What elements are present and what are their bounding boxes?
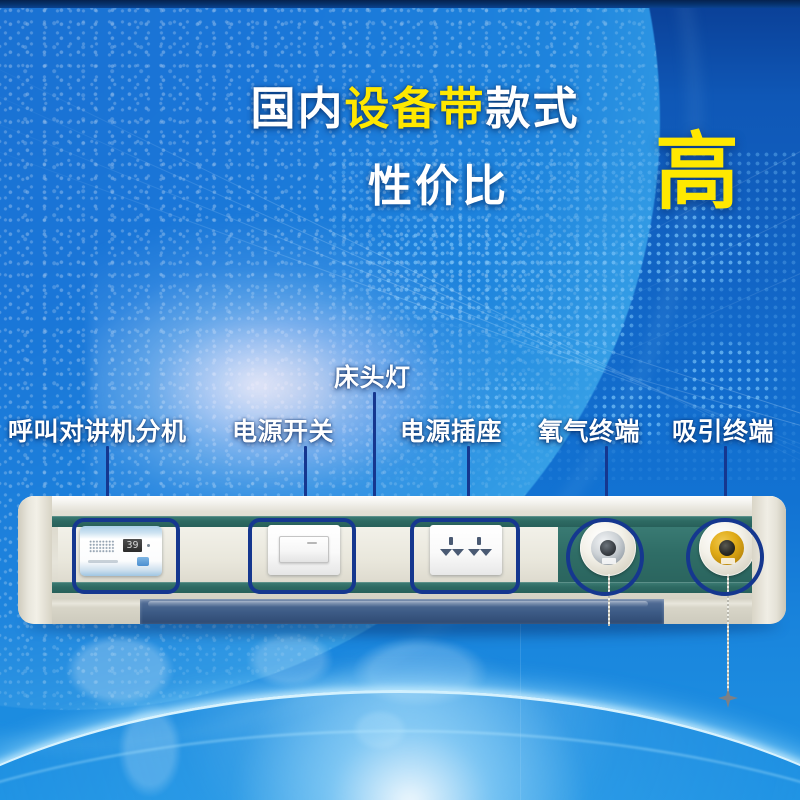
callout-label-bedlamp: 床头灯	[334, 358, 411, 394]
callout-label-oxygen: 氧气终端	[538, 412, 640, 448]
callout-label-suction: 吸引终端	[672, 412, 774, 448]
bed-lamp-gloss	[148, 601, 648, 607]
highlight-frame-socket	[410, 518, 520, 594]
highlight-frame-intercom	[72, 518, 180, 594]
callout-label-socket: 电源插座	[400, 412, 502, 448]
light-streak-5	[520, 0, 800, 301]
light-streak-7	[560, 0, 800, 381]
top-border-strip	[0, 0, 800, 8]
bed-lamp-strip	[18, 599, 786, 624]
highlight-circle-oxygen	[566, 518, 644, 596]
promo-banner: 国内设备带款式 性价比 高 呼叫对讲机分机电源开关床头灯电源插座氧气终端吸引终端…	[0, 0, 800, 800]
bottom-glow	[230, 640, 590, 800]
panel-top-highlight	[18, 496, 786, 512]
callout-label-intercom: 呼叫对讲机分机	[8, 412, 187, 448]
panel-endcap-left	[18, 496, 52, 624]
highlight-frame-switch	[248, 518, 356, 594]
callout-label-switch: 电源开关	[232, 412, 334, 448]
highlight-circle-suction	[686, 518, 764, 596]
